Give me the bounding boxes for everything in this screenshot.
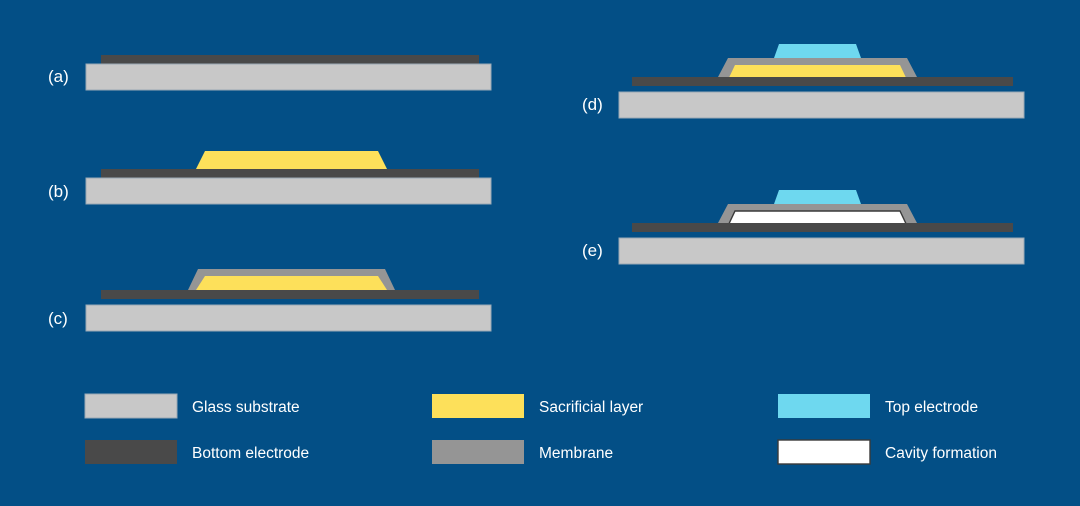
panel-b-glass-substrate [86,178,491,204]
legend-label-bottom-electrode: Bottom electrode [192,445,309,462]
panel-a-glass-substrate [86,64,491,90]
process-flow-figure: (a) (b) (c) (d) (e) [0,0,1080,506]
panel-c-bottom-electrode [101,290,479,299]
panel-a: (a) [48,55,491,90]
legend-swatch-membrane [432,440,524,464]
panel-e-label: (e) [582,241,603,260]
legend-swatch-bottom-electrode [85,440,177,464]
panel-c-glass-substrate [86,305,491,331]
panel-a-label: (a) [48,67,69,86]
legend-label-cavity-formation: Cavity formation [885,445,997,462]
panel-b-sacrificial-layer [196,151,387,169]
legend-label-membrane: Membrane [539,445,613,462]
panel-d-top-electrode [774,44,861,58]
legend-swatch-cavity-formation [778,440,870,464]
panel-d-glass-substrate [619,92,1024,118]
legend-label-glass-substrate: Glass substrate [192,399,300,416]
legend-swatch-sacrificial-layer [432,394,524,418]
panel-d-label: (d) [582,95,603,114]
panel-e-bottom-electrode [632,223,1013,232]
legend-label-top-electrode: Top electrode [885,399,978,416]
legend-swatch-glass-substrate [85,394,177,418]
legend-label-sacrificial-layer: Sacrificial layer [539,399,643,416]
panel-d-bottom-electrode [632,77,1013,86]
panel-e-glass-substrate [619,238,1024,264]
panel-e-top-electrode [774,190,861,204]
panel-c-label: (c) [48,309,68,328]
panel-b-bottom-electrode [101,169,479,178]
panel-a-bottom-electrode [101,55,479,64]
panel-c-sacrificial-layer [196,276,387,290]
legend-swatch-top-electrode [778,394,870,418]
panel-b-label: (b) [48,182,69,201]
